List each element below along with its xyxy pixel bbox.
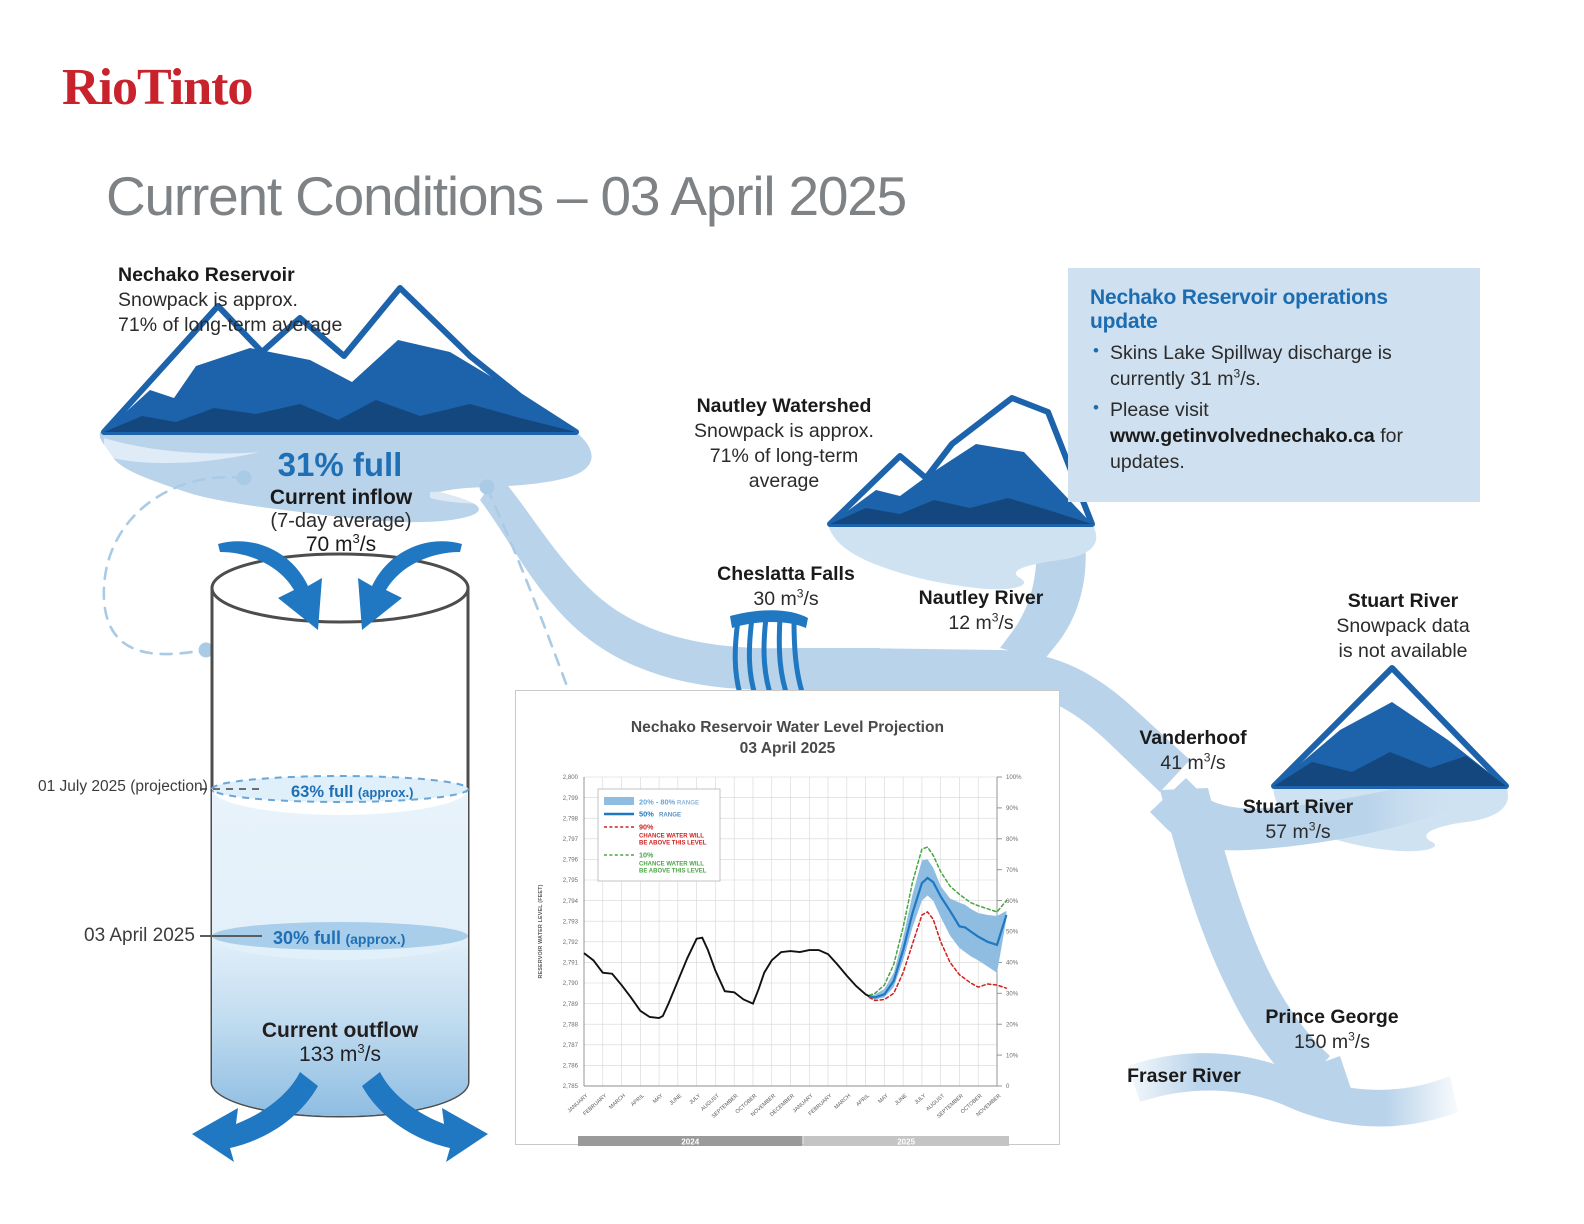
fraser-river-title: Fraser River <box>1114 1064 1254 1089</box>
svg-text:2,796: 2,796 <box>563 857 579 864</box>
svg-text:JUNE: JUNE <box>669 1093 684 1107</box>
band-20-80 <box>869 859 1006 999</box>
svg-text:2,791: 2,791 <box>563 960 579 967</box>
svg-text:50%: 50% <box>1006 929 1019 936</box>
svg-text:20%: 20% <box>1006 1021 1019 1028</box>
stuart-snowpack-line1: Snowpack data <box>1318 614 1488 639</box>
svg-text:60%: 60% <box>1006 898 1019 905</box>
svg-text:50%: 50% <box>639 810 654 819</box>
infographic-canvas: RioTinto Current Conditions – 03 April 2… <box>0 0 1584 1224</box>
svg-text:MARCH: MARCH <box>608 1093 627 1111</box>
nautley-watershed-line1: Snowpack is approx. <box>680 419 888 444</box>
nechako-snowpack-line1: Snowpack is approx. <box>118 288 342 313</box>
current-inflow-title: Current inflow <box>196 486 486 510</box>
projection-level-label: 63% full (approx.) <box>291 783 413 802</box>
svg-text:10%: 10% <box>639 851 654 860</box>
nechako-snowpack-line2: 71% of long-term average <box>118 313 342 338</box>
cheslatta-falls-value: 30 m3/s <box>712 587 860 612</box>
nautley-watershed-title: Nautley Watershed <box>680 394 888 419</box>
svg-text:CHANCE WATER WILL: CHANCE WATER WILL <box>639 834 704 840</box>
nautley-river-value: 12 m3/s <box>910 611 1052 636</box>
svg-text:2,797: 2,797 <box>563 836 579 843</box>
svg-text:20% - 80%: 20% - 80% <box>639 798 676 807</box>
nechako-snowpack-annotation: Nechako Reservoir Snowpack is approx. 71… <box>118 263 342 338</box>
svg-text:APRIL: APRIL <box>630 1093 646 1108</box>
operations-bullet-website: Please visit www.getinvolvednechako.ca f… <box>1090 398 1460 475</box>
operations-update-heading: Nechako Reservoir operations update <box>1090 286 1460 334</box>
stuart-river-flow-annotation: Stuart River 57 m3/s <box>1228 795 1368 845</box>
svg-text:70%: 70% <box>1006 867 1019 874</box>
svg-text:BE ABOVE THIS LEVEL: BE ABOVE THIS LEVEL <box>639 841 707 847</box>
stuart-river-value: 57 m3/s <box>1228 820 1368 845</box>
projection-level-approx: (approx.) <box>358 785 414 800</box>
stuart-river-title: Stuart River <box>1228 795 1368 820</box>
svg-text:2,793: 2,793 <box>563 918 579 925</box>
operations-bullet-spillway: Skins Lake Spillway discharge is current… <box>1090 341 1460 392</box>
vanderhoof-value: 41 m3/s <box>1126 751 1260 776</box>
svg-text:2024: 2024 <box>681 1137 699 1146</box>
cheslatta-falls-title: Cheslatta Falls <box>712 562 860 587</box>
svg-text:80%: 80% <box>1006 836 1019 843</box>
svg-text:RESERVOIR WATER LEVEL (FEET): RESERVOIR WATER LEVEL (FEET) <box>538 884 544 978</box>
svg-text:2,789: 2,789 <box>563 1001 579 1008</box>
website-link[interactable]: www.getinvolvednechako.ca <box>1110 425 1375 447</box>
svg-text:0: 0 <box>1006 1083 1010 1090</box>
water-level-projection-chart: Nechako Reservoir Water Level Projection… <box>515 690 1060 1145</box>
stuart-snowpack-line2: is not available <box>1318 639 1488 664</box>
nautley-river-annotation: Nautley River 12 m3/s <box>910 586 1052 636</box>
svg-text:BE ABOVE THIS LEVEL: BE ABOVE THIS LEVEL <box>639 869 707 875</box>
svg-text:2,788: 2,788 <box>563 1021 579 1028</box>
current-level-value: 30% full <box>273 928 341 948</box>
cheslatta-falls-annotation: Cheslatta Falls 30 m3/s <box>712 562 860 612</box>
svg-text:JULY: JULY <box>688 1093 702 1106</box>
nechako-snowpack-title: Nechako Reservoir <box>118 263 342 288</box>
svg-text:JULY: JULY <box>914 1093 928 1106</box>
svg-text:100%: 100% <box>1006 774 1022 781</box>
series-observed <box>584 938 869 1018</box>
nautley-river-title: Nautley River <box>910 586 1052 611</box>
stuart-snowpack-title: Stuart River <box>1318 589 1488 614</box>
nautley-watershed-line2: 71% of long-term average <box>680 444 888 494</box>
svg-text:10%: 10% <box>1006 1052 1019 1059</box>
operations-update-box: Nechako Reservoir operations update Skin… <box>1068 268 1480 502</box>
svg-text:MAY: MAY <box>877 1093 890 1105</box>
svg-text:90%: 90% <box>1006 805 1019 812</box>
prince-george-value: 150 m3/s <box>1252 1030 1412 1055</box>
stuart-mountain-icon <box>1274 668 1506 786</box>
current-level-label: 30% full (approx.) <box>273 928 405 949</box>
operations-update-list: Skins Lake Spillway discharge is current… <box>1090 341 1460 476</box>
reservoir-percent-full: 31% full <box>212 446 468 484</box>
svg-text:2,799: 2,799 <box>563 795 579 802</box>
svg-text:RANGE: RANGE <box>677 800 699 807</box>
visit-prefix: Please visit <box>1110 399 1209 421</box>
current-inflow-label: Current inflow (7-day average) 70 m3/s <box>196 486 486 557</box>
projection-date-label: 01 July 2025 (projection) <box>38 778 208 796</box>
svg-text:30%: 30% <box>1006 991 1019 998</box>
vanderhoof-annotation: Vanderhoof 41 m3/s <box>1126 726 1260 776</box>
svg-text:2,786: 2,786 <box>563 1063 579 1070</box>
projection-level-value: 63% full <box>291 783 353 801</box>
vanderhoof-title: Vanderhoof <box>1126 726 1260 751</box>
svg-text:APRIL: APRIL <box>855 1093 871 1108</box>
current-level-approx: (approx.) <box>345 931 405 947</box>
current-outflow-label: Current outflow 133 m3/s <box>206 1019 474 1067</box>
prince-george-title: Prince George <box>1252 1005 1412 1030</box>
svg-text:2,790: 2,790 <box>563 980 579 987</box>
svg-text:2,794: 2,794 <box>563 898 579 905</box>
chart-svg: 2,7852,7862,7872,7882,7892,7902,7912,792… <box>516 691 1061 1146</box>
svg-text:2,787: 2,787 <box>563 1042 579 1049</box>
svg-text:2,795: 2,795 <box>563 877 579 884</box>
svg-text:2,785: 2,785 <box>563 1083 579 1090</box>
svg-text:MAY: MAY <box>652 1093 665 1105</box>
svg-text:90%: 90% <box>639 823 654 832</box>
page-title: Current Conditions – 03 April 2025 <box>106 164 906 228</box>
svg-text:40%: 40% <box>1006 960 1019 967</box>
svg-text:2,800: 2,800 <box>563 774 579 781</box>
prince-george-annotation: Prince George 150 m3/s <box>1252 1005 1412 1055</box>
rio-tinto-logo: RioTinto <box>62 62 252 114</box>
current-date-label: 03 April 2025 <box>84 925 195 947</box>
svg-text:MARCH: MARCH <box>833 1093 852 1111</box>
fraser-river-annotation: Fraser River <box>1114 1064 1254 1089</box>
current-inflow-value: 70 m3/s <box>196 533 486 557</box>
nautley-watershed-annotation: Nautley Watershed Snowpack is approx. 71… <box>680 394 888 494</box>
current-inflow-sub: (7-day average) <box>196 510 486 533</box>
svg-text:2025: 2025 <box>897 1137 915 1146</box>
svg-text:RANGE: RANGE <box>659 812 681 819</box>
svg-text:CHANCE WATER WILL: CHANCE WATER WILL <box>639 862 704 868</box>
current-outflow-title: Current outflow <box>206 1019 474 1043</box>
current-outflow-value: 133 m3/s <box>206 1043 474 1067</box>
svg-text:2,792: 2,792 <box>563 939 579 946</box>
svg-text:JUNE: JUNE <box>894 1093 909 1107</box>
stuart-snowpack-annotation: Stuart River Snowpack data is not availa… <box>1318 589 1488 664</box>
svg-text:2,798: 2,798 <box>563 815 579 822</box>
